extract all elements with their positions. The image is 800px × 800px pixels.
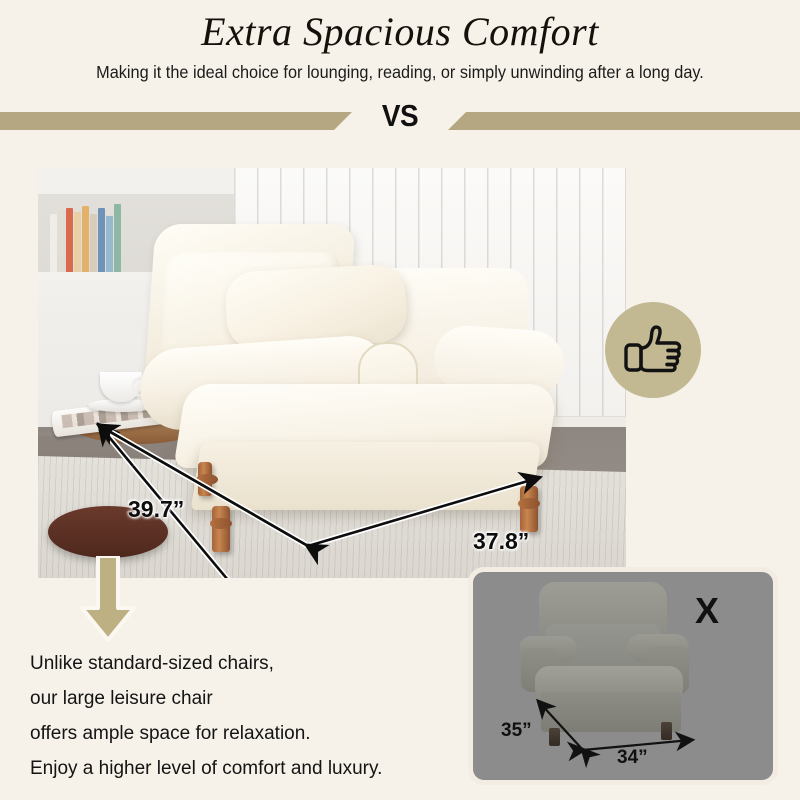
book-spine (114, 204, 121, 272)
vs-label: VS (40, 98, 760, 134)
chair-leg-back-left (198, 462, 212, 496)
chair-base (191, 442, 542, 510)
bookshelf-books (50, 206, 121, 272)
chair-leg-front-left (212, 506, 230, 552)
alcove-top (38, 168, 234, 194)
infographic-page: Extra Spacious Comfort Making it the ide… (0, 0, 800, 800)
page-title: Extra Spacious Comfort (0, 8, 800, 56)
book-spine (66, 208, 73, 272)
callout-line: offers ample space for relaxation. (30, 716, 460, 751)
thumbs-up-badge (605, 302, 701, 398)
thumbs-up-icon (622, 320, 684, 380)
dimension-label-depth: 39.7” (128, 496, 184, 523)
dimension-label-width: 37.8” (473, 528, 529, 555)
grey-chair-leg-right (661, 722, 672, 740)
callout-line: Unlike standard-sized chairs, (30, 646, 460, 681)
vs-banner: VS (0, 104, 800, 138)
grey-chair-leg-left (549, 728, 560, 746)
book-spine (98, 208, 105, 272)
book-spine (82, 206, 89, 272)
book-spine (50, 214, 57, 272)
inset-dimension-depth: 35” (501, 720, 532, 742)
cream-accent-chair (122, 224, 562, 524)
comparison-inset-panel: X 35” 34” (468, 567, 778, 785)
callout-line: our large leisure chair (30, 681, 460, 716)
book-spine (74, 212, 81, 272)
callout-line: Enjoy a higher level of comfort and luxu… (30, 751, 460, 786)
grey-chair-skirt (541, 692, 681, 732)
down-arrow-icon (76, 556, 140, 642)
chair-leg-front-right (520, 486, 538, 532)
book-spine (106, 216, 113, 272)
inset-dimension-width: 34” (617, 747, 648, 769)
standard-grey-chair (519, 582, 719, 742)
book-spine (90, 214, 97, 272)
callout-text: Unlike standard-sized chairs, our large … (30, 646, 460, 786)
book-spine (58, 210, 65, 272)
main-product-photo: 39.7” 37.8” (38, 168, 626, 578)
page-subtitle: Making it the ideal choice for lounging,… (28, 60, 772, 84)
